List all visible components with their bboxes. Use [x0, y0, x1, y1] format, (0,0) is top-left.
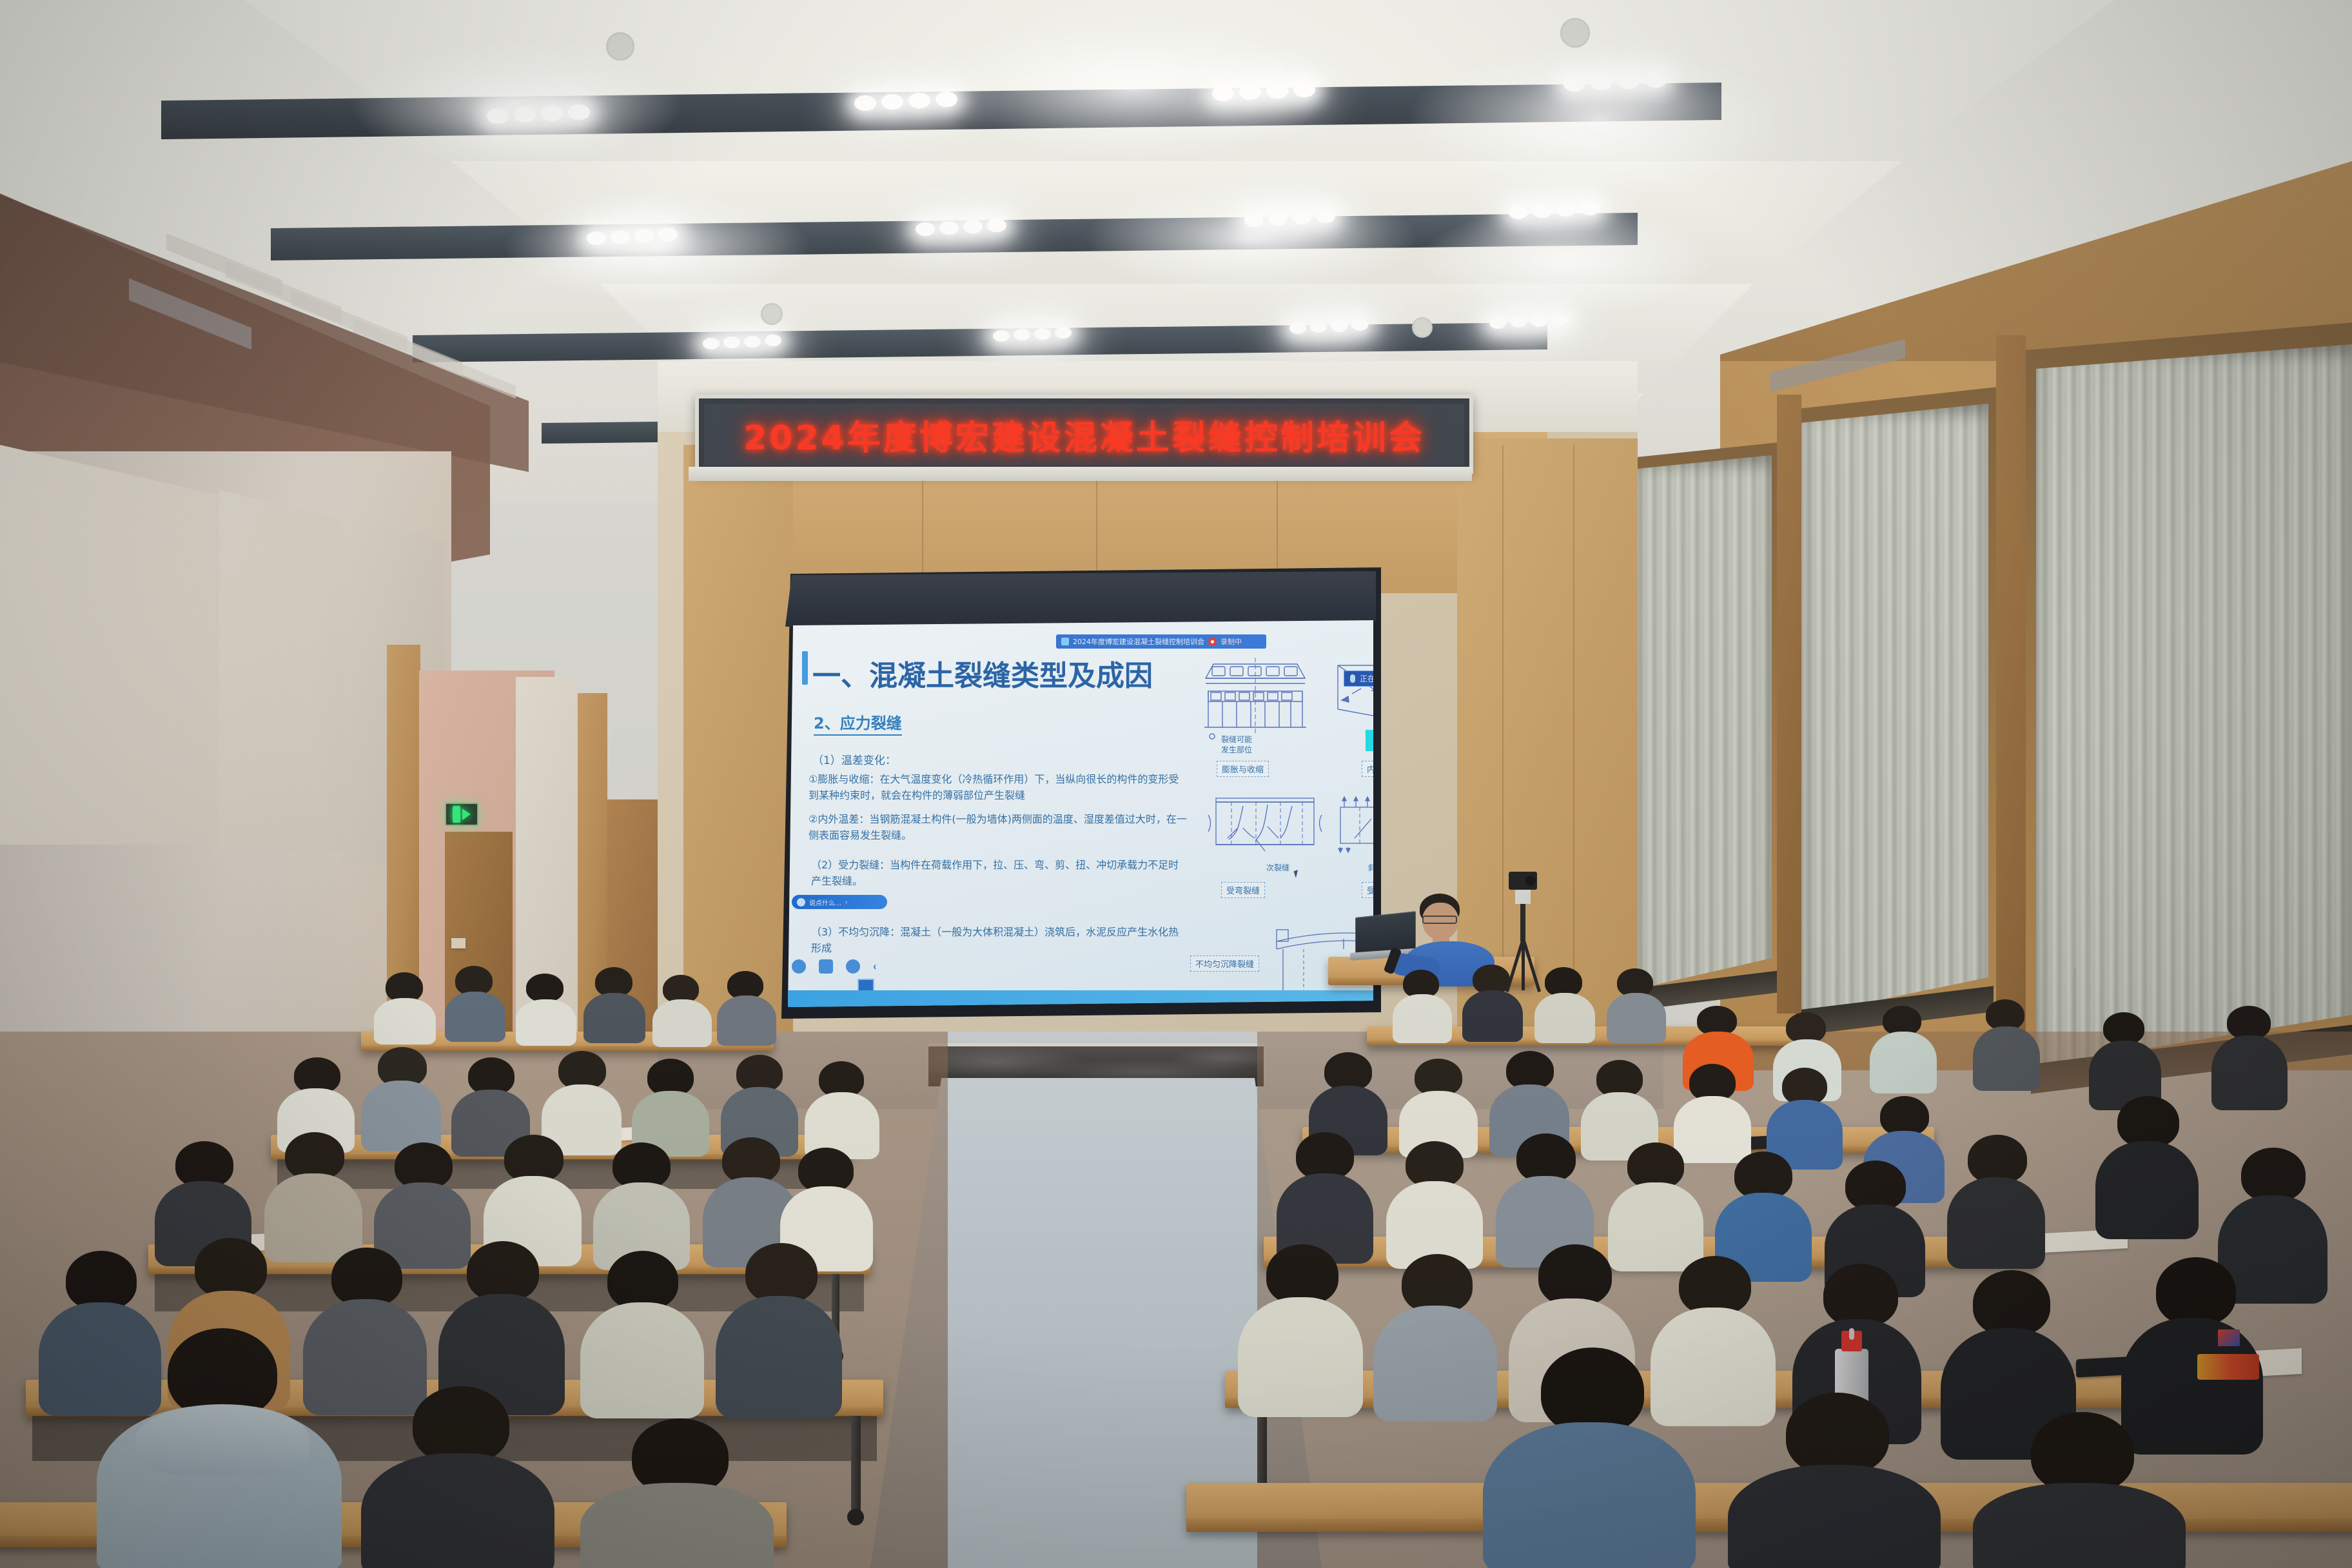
- audience-a9: [1534, 967, 1595, 1042]
- presenter-glasses-icon: [1422, 916, 1457, 924]
- exit-arrow-icon: [462, 808, 471, 820]
- video-camera-icon[interactable]: [819, 959, 833, 974]
- ceiling-glow-5: [1083, 181, 1418, 297]
- meeting-title-text: 2024年度博宏建设混凝土裂缝控制培训会: [1073, 636, 1204, 647]
- audience-a8: [1462, 965, 1523, 1041]
- audience-e5: [1728, 1393, 1941, 1568]
- audience-a16: [2211, 1006, 2288, 1109]
- diagram-caption-expansion: 膨胀与收缩: [1217, 761, 1269, 777]
- audience-d8: [1373, 1254, 1497, 1419]
- curtain-2: [1800, 404, 1988, 1016]
- led-banner: 2024年度博宏建设混凝土裂缝控制培训会: [695, 395, 1473, 475]
- audience-a10: [1607, 968, 1666, 1042]
- led-banner-text: 2024年度博宏建设混凝土裂缝控制培训会: [743, 411, 1425, 459]
- tshirt-graphic: [2197, 1354, 2259, 1380]
- meeting-logo-icon: [1061, 638, 1069, 645]
- highlight-cyan-box: [1366, 730, 1373, 751]
- audience-c9: [1386, 1141, 1483, 1268]
- exit-running-man-icon: [453, 806, 460, 823]
- slide-surface: 2024年度博宏建设混凝土裂缝控制培训会 录制中 一、混凝土裂缝类型及成因 2、…: [788, 620, 1373, 1007]
- diagram-label-secondary-crack: 次裂缝: [1266, 862, 1289, 873]
- audience-c5: [593, 1142, 690, 1268]
- audience-a4: [583, 967, 645, 1042]
- audience-d7: [1238, 1244, 1363, 1415]
- speaking-indicator-bar: 正在讲话：董腾: [1344, 671, 1373, 687]
- bottle-strap: [1849, 1328, 1854, 1340]
- audience-a13: [1870, 1006, 1937, 1092]
- door-plate-1: [451, 938, 465, 948]
- mouse-cursor: [1293, 870, 1300, 878]
- desk-d-leg-1: [851, 1416, 861, 1513]
- left-wall-panel-2: [219, 490, 342, 851]
- diagram-label-occurrence-location: 发生部位: [1221, 744, 1252, 755]
- audience-b7: [805, 1061, 879, 1158]
- camera-lens-icon: [1525, 876, 1536, 886]
- annotation-chip-text: 说点什么…: [809, 897, 841, 907]
- diagram-caption-flexural: 受弯裂缝: [1221, 882, 1265, 898]
- audience-a3: [516, 974, 576, 1044]
- ceiling-sprinkler-4: [1412, 317, 1433, 338]
- slide-heading: 一、混凝土裂缝类型及成因: [812, 652, 1153, 694]
- slide-body-line-4: （2）受力裂缝：当构件在荷载作用下，拉、压、弯、剪、扭、冲切承载力不足时产生裂缝…: [811, 857, 1188, 890]
- audience-a15: [2089, 1012, 2161, 1109]
- audience-e6: [1973, 1412, 2186, 1568]
- diagram-expansion-contraction: [1194, 651, 1317, 761]
- right-column-2: [1996, 335, 2026, 1051]
- audience-a6: [717, 971, 776, 1044]
- ceiling-glow-6: [1418, 206, 1715, 316]
- ceiling-glow-4: [503, 193, 812, 303]
- diagram-label-crack-possible: 裂缝可能: [1221, 734, 1252, 745]
- diagram-caption-settlement: 不均匀沉降裂缝: [1190, 955, 1259, 972]
- chevron-left-icon[interactable]: ‹: [845, 899, 847, 906]
- audience-e3: [580, 1418, 774, 1568]
- audience-e4: [1483, 1347, 1696, 1568]
- exit-sign: [445, 803, 478, 826]
- annotation-chip[interactable]: 说点什么… ‹: [792, 895, 887, 909]
- conference-room-photo: 2024年度博宏建设混凝土裂缝控制培训会 2024年度博宏建设混凝土裂缝控制培训…: [0, 0, 2352, 1568]
- slide-subheading: 2、应力裂缝: [814, 710, 902, 736]
- diagram-flexural-crack: [1200, 789, 1329, 867]
- screen-dark-band: [785, 571, 1376, 627]
- annotation-avatar-icon: [797, 898, 805, 906]
- audience-d5: [580, 1251, 704, 1416]
- speaking-label: 正在讲话：董腾: [1360, 673, 1373, 684]
- audience-e2: [361, 1386, 554, 1568]
- diagram-caption-shear: 受剪裂缝: [1362, 882, 1373, 898]
- more-options-icon[interactable]: [846, 959, 860, 974]
- tripod-column: [1520, 904, 1525, 941]
- meeting-toolbar[interactable]: ‹: [792, 958, 959, 975]
- meeting-titlebar: 2024年度博宏建设混凝土裂缝控制培训会 录制中: [1056, 634, 1266, 649]
- recording-indicator-icon: [1208, 638, 1217, 646]
- collapse-chevron-icon[interactable]: ‹: [873, 960, 877, 973]
- audience-a2: [445, 966, 505, 1041]
- slide-body-line-2: ①膨胀与收缩：在大气温度变化（冷热循环作用）下，当纵向很长的构件的变形受到某种约…: [808, 772, 1189, 804]
- front-wall-seam-5: [1573, 445, 1574, 1032]
- diagram-label-diagonal-crack: 斜脚裂缝: [1368, 862, 1373, 873]
- left-wall-panel-1: [0, 445, 219, 845]
- curtain-1: [1631, 455, 1772, 990]
- audience-b5: [632, 1059, 709, 1155]
- audience-e1-hooded: [97, 1328, 342, 1568]
- audience-b2: [361, 1047, 441, 1150]
- led-banner-shelf: [689, 467, 1472, 481]
- audience-c8: [1277, 1132, 1373, 1262]
- audience-a5: [652, 975, 712, 1046]
- refresh-icon[interactable]: [792, 959, 806, 974]
- audience-c14: [1947, 1135, 2045, 1268]
- slide-body-line-1: （1）温差变化：: [812, 752, 1199, 769]
- tripod-head: [1515, 890, 1531, 904]
- audience-d6: [716, 1243, 842, 1416]
- recording-label: 录制中: [1220, 636, 1242, 647]
- ceiling-sprinkler-3: [761, 303, 783, 325]
- audience-a7: [1393, 970, 1452, 1042]
- ceiling-sprinkler-2: [1560, 18, 1590, 48]
- desk-caster-4: [847, 1509, 864, 1525]
- ceiling-sprinkler-1: [606, 32, 634, 61]
- ceiling-glow-3: [1406, 45, 1792, 193]
- audience-a14: [1973, 999, 2040, 1090]
- tshirt-logo: [2218, 1329, 2240, 1346]
- front-wall-wood-left: [683, 445, 793, 1038]
- diagram-shear-crack: [1333, 793, 1373, 867]
- hood-collar: [135, 1404, 309, 1475]
- audience-a1: [374, 972, 436, 1043]
- curtain-3: [2036, 344, 2352, 1066]
- ceiling-glow-1: [348, 39, 683, 168]
- slide-body-line-5: （3）不均匀沉降：混凝土（一般为大体积混凝土）浇筑后，水泥反应产生水化热形成: [811, 925, 1188, 957]
- microphone-icon: [1350, 674, 1355, 683]
- slide-body-line-3: ②内外温差：当钢筋混凝土构件(一般为墙体)两侧面的温度、湿度差值过大时，在一侧表…: [808, 812, 1189, 844]
- diagram-caption-temp-diff: 内外温差: [1362, 761, 1373, 777]
- right-column-1: [1777, 395, 1801, 1014]
- heading-accent-bar: [802, 651, 808, 685]
- diagram-temperature-difference: [1333, 654, 1373, 738]
- audience-c15: [2095, 1096, 2199, 1238]
